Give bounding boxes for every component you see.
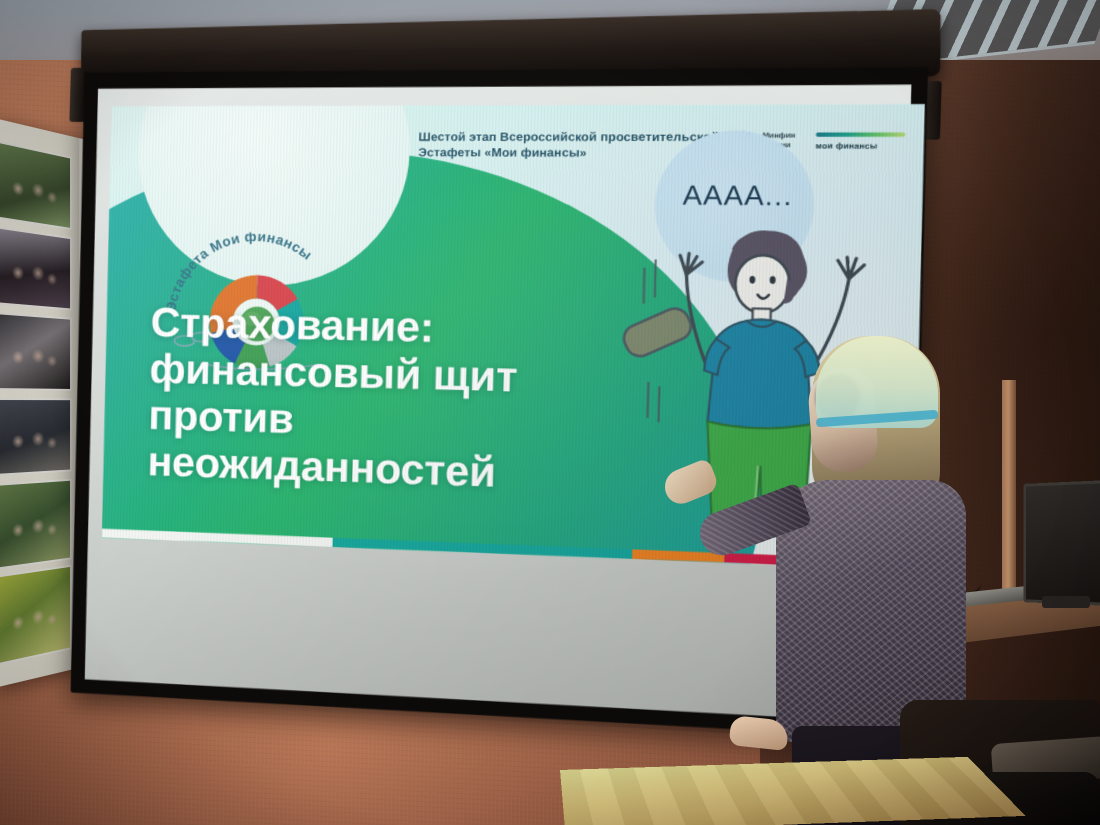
photo-4 xyxy=(0,398,72,476)
monitor-stand xyxy=(1042,596,1090,608)
photo-5 xyxy=(0,479,72,571)
moi-finansy-text: мои финансы xyxy=(816,140,906,150)
moi-finansy-logo: мои финансы xyxy=(816,132,906,150)
photo-1 xyxy=(0,139,72,230)
classroom-scene: Эстафета Мои финансы xyxy=(0,0,1100,825)
foreground-table xyxy=(560,757,1026,825)
photo-3 xyxy=(0,312,72,391)
wall-pillar xyxy=(1002,380,1016,610)
photo-2 xyxy=(0,225,72,310)
computer-monitor xyxy=(1023,480,1100,606)
photo-6 xyxy=(0,565,72,667)
moi-finansy-gradient-line xyxy=(816,132,906,136)
slide-title: Страхование: финансовый щит против неожи… xyxy=(147,300,602,500)
